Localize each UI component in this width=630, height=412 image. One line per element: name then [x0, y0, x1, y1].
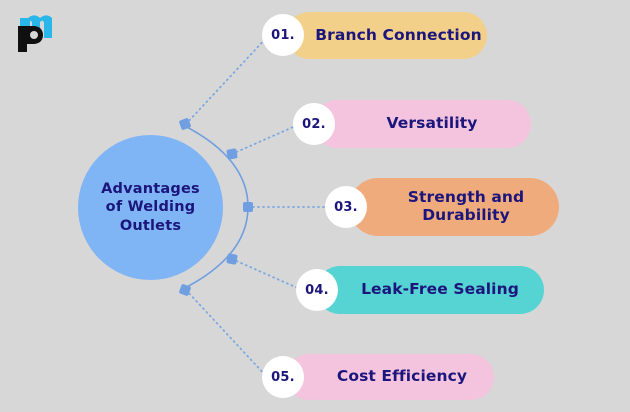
item-number-2: 02.	[302, 117, 326, 132]
item-badge-5: 05.	[262, 356, 304, 398]
connector-node-5	[179, 284, 192, 297]
connector-line-1	[186, 36, 268, 124]
infographic-canvas: Advantages of Welding Outlets Branch Con…	[0, 0, 630, 412]
item-badge-1: 01.	[262, 14, 304, 56]
connector-line-4	[232, 259, 302, 290]
connector-node-3	[243, 202, 253, 212]
item-badge-4: 04.	[296, 269, 338, 311]
connector-node-1	[179, 118, 192, 131]
item-label-1: Branch Connection	[291, 27, 481, 45]
list-item[interactable]: Branch Connection 01.	[262, 12, 487, 59]
item-number-1: 01.	[271, 28, 295, 43]
list-item[interactable]: Strength and Durability 03.	[325, 178, 559, 236]
connector-node-2	[226, 148, 238, 160]
item-label-3: Strength and Durability	[384, 189, 525, 225]
list-item[interactable]: Leak-Free Sealing 04.	[296, 266, 544, 314]
item-number-5: 05.	[271, 370, 295, 385]
item-label-2: Versatility	[367, 115, 478, 133]
item-pill-2[interactable]: Versatility	[313, 100, 531, 148]
item-pill-4[interactable]: Leak-Free Sealing	[316, 266, 544, 314]
item-pill-3[interactable]: Strength and Durability	[349, 178, 559, 236]
pm-logo-icon	[10, 8, 64, 54]
item-label-4: Leak-Free Sealing	[341, 281, 519, 299]
center-hub: Advantages of Welding Outlets	[78, 135, 223, 280]
item-label-5: Cost Efficiency	[313, 368, 467, 386]
connector-line-5	[186, 290, 268, 378]
item-pill-5[interactable]: Cost Efficiency	[286, 354, 494, 400]
connector-line-2	[232, 124, 300, 154]
pm-logo	[10, 8, 64, 54]
hub-title: Advantages of Welding Outlets	[91, 180, 210, 236]
item-number-4: 04.	[305, 283, 329, 298]
connector-node-4	[226, 253, 238, 265]
item-pill-1[interactable]: Branch Connection	[286, 12, 487, 59]
item-number-3: 03.	[334, 200, 358, 215]
item-badge-2: 02.	[293, 103, 335, 145]
list-item[interactable]: Versatility 02.	[293, 100, 531, 148]
item-badge-3: 03.	[325, 186, 367, 228]
list-item[interactable]: Cost Efficiency 05.	[262, 354, 494, 400]
